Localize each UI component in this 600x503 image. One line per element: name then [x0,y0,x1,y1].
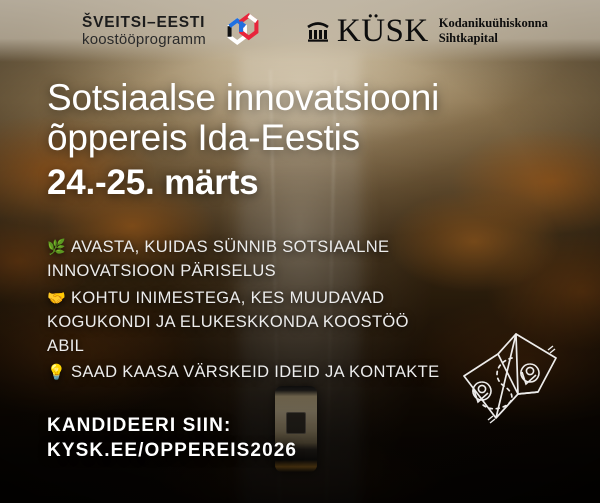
kusk-tagline: Kodanikuühiskonna Sihtkapital [436,16,548,47]
cta-url[interactable]: KYSK.EE/OPPEREIS2026 [47,439,297,464]
call-to-action[interactable]: KANDIDEERI SIIN: KYSK.EE/OPPEREIS2026 [47,414,297,463]
headline-line-1: Sotsiaalse innovatsiooni [47,78,547,118]
event-date: 24.-25. märts [47,163,547,202]
folded-map-with-pins-icon [452,330,582,445]
benefits-list: 🌿AVASTA, KUIDAS SÜNNIB SOTSIAALNE INNOVA… [47,235,447,387]
cta-label: KANDIDEERI SIIN: [47,414,297,439]
kusk-logo: KÜSK Kodanikuühiskonna Sihtkapital [306,16,548,47]
kusk-tagline-line1: Kodanikuühiskonna [439,16,548,31]
interlocking-hexagons-logo [220,8,266,54]
logo-bar: ŠVEITSI–EESTI koostööprogramm [0,0,600,62]
list-item: 💡SAAD KAASA VÄRSKEID IDEID JA KONTAKTE [47,360,447,384]
list-item: 🌿AVASTA, KUIDAS SÜNNIB SOTSIAALNE INNOVA… [47,235,447,284]
list-item: 🤝KOHTU INIMESTEGA, KES MUUDAVAD KOGUKOND… [47,286,447,359]
list-item-text: SAAD KAASA VÄRSKEID IDEID JA KONTAKTE [71,363,439,381]
lightbulb-icon: 💡 [47,364,66,381]
kusk-wordmark: KÜSK [337,16,429,46]
swiss-subtitle: koostööprogramm [82,32,206,47]
swiss-estonian-wordmark: ŠVEITSI–EESTI koostööprogramm [82,15,206,48]
headline-block: Sotsiaalse innovatsiooni õppereis Ida-Ee… [47,78,547,202]
handshake-icon: 🤝 [47,290,66,307]
headline-line-2: õppereis Ida-Eestis [47,118,547,158]
swiss-title: ŠVEITSI–EESTI [82,15,206,31]
list-item-text: AVASTA, KUIDAS SÜNNIB SOTSIAALNE INNOVAT… [47,238,389,280]
poster: ŠVEITSI–EESTI koostööprogramm [0,0,600,503]
kusk-tagline-line2: Sihtkapital [439,31,548,46]
seedling-icon: 🌿 [47,239,66,256]
list-item-text: KOHTU INIMESTEGA, KES MUUDAVAD KOGUKONDI… [47,289,409,356]
classical-building-icon [306,19,330,43]
